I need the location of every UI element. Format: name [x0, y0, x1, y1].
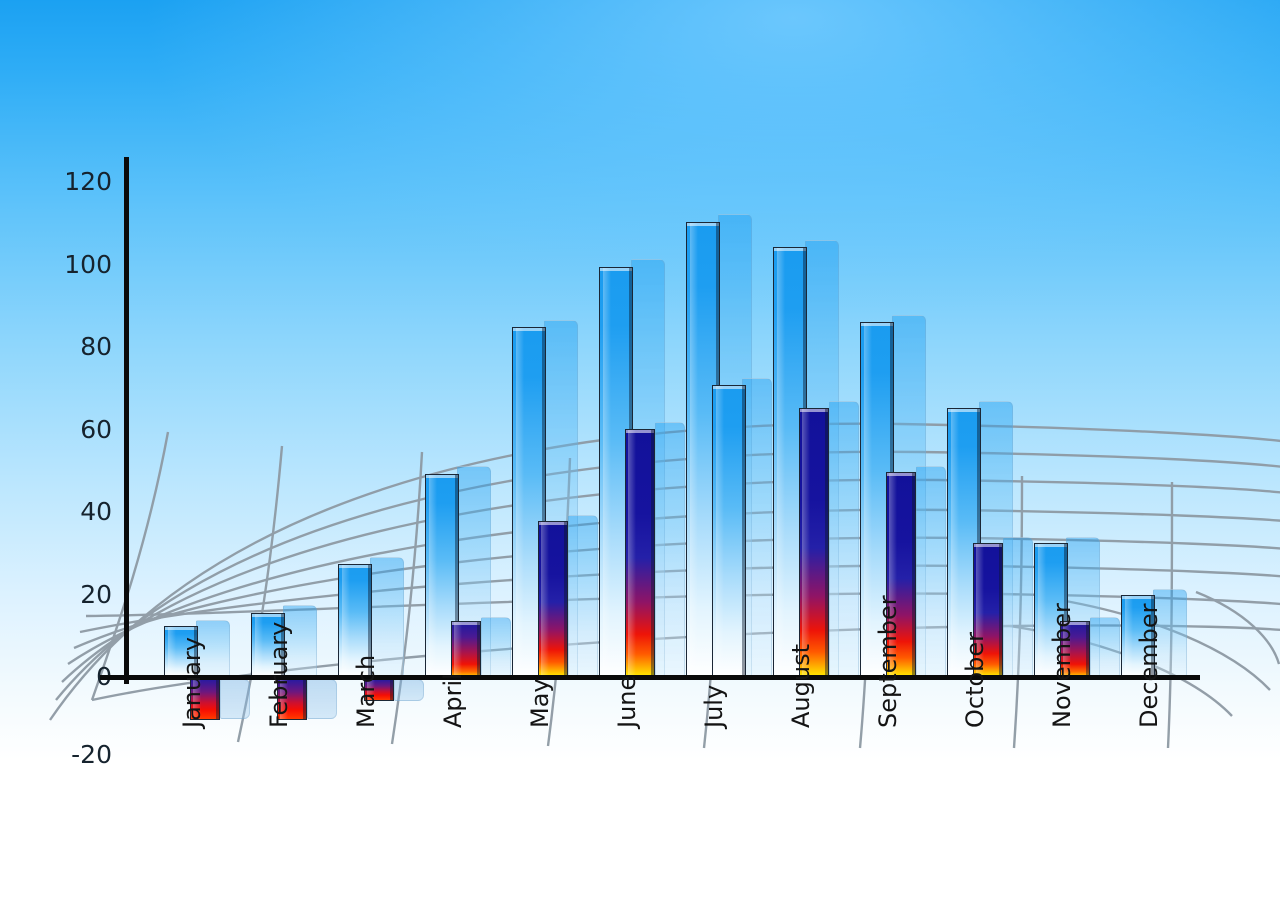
bar-ghost-september-s2 — [916, 466, 946, 680]
chart-canvas: 120 100 80 60 40 20 0 -20 — [0, 0, 1280, 905]
x-tick-april: April — [439, 673, 467, 728]
x-tick-december: December — [1135, 604, 1163, 728]
bar-ghost-july-s2 — [742, 378, 772, 680]
bar-august-series2[interactable] — [799, 408, 829, 677]
x-tick-february: February — [265, 622, 293, 728]
y-tick-40: 40 — [52, 497, 112, 526]
bar-ghost-october-s2 — [1003, 537, 1033, 680]
y-tick-labels: 120 100 80 60 40 20 0 -20 — [0, 0, 112, 905]
x-tick-june: June — [613, 676, 641, 728]
bar-ghost-november-s2 — [1090, 617, 1120, 680]
y-tick-100: 100 — [52, 250, 112, 279]
x-tick-march: March — [352, 655, 380, 728]
bar-july-series2[interactable] — [712, 385, 746, 677]
x-tick-november: November — [1048, 603, 1076, 728]
plot-area: 120 100 80 60 40 20 0 -20 — [0, 0, 1280, 905]
bar-ghost-january-s2 — [220, 679, 250, 719]
x-tick-may: May — [526, 678, 554, 728]
x-tick-september: September — [874, 595, 902, 728]
y-tick-120: 120 — [52, 167, 112, 196]
bar-june-series2[interactable] — [625, 429, 655, 677]
bar-ghost-march-s2 — [394, 679, 424, 701]
bar-ghost-august-s2 — [829, 401, 859, 680]
y-tick-60: 60 — [52, 415, 112, 444]
bar-ghost-april-s2 — [481, 617, 511, 680]
y-tick-20: 20 — [52, 580, 112, 609]
bar-may-series2[interactable] — [538, 521, 568, 677]
x-tick-october: October — [961, 632, 989, 728]
y-axis-line — [124, 157, 129, 684]
y-tick-neg20: -20 — [52, 740, 112, 769]
bar-ghost-february-s2 — [307, 679, 337, 719]
y-tick-80: 80 — [52, 332, 112, 361]
x-tick-august: August — [787, 644, 815, 728]
bar-ghost-june-s2 — [655, 422, 685, 680]
bar-april-series2[interactable] — [451, 621, 481, 677]
x-tick-january: January — [178, 637, 206, 728]
x-tick-july: July — [700, 685, 728, 728]
bar-ghost-may-s2 — [568, 515, 598, 680]
